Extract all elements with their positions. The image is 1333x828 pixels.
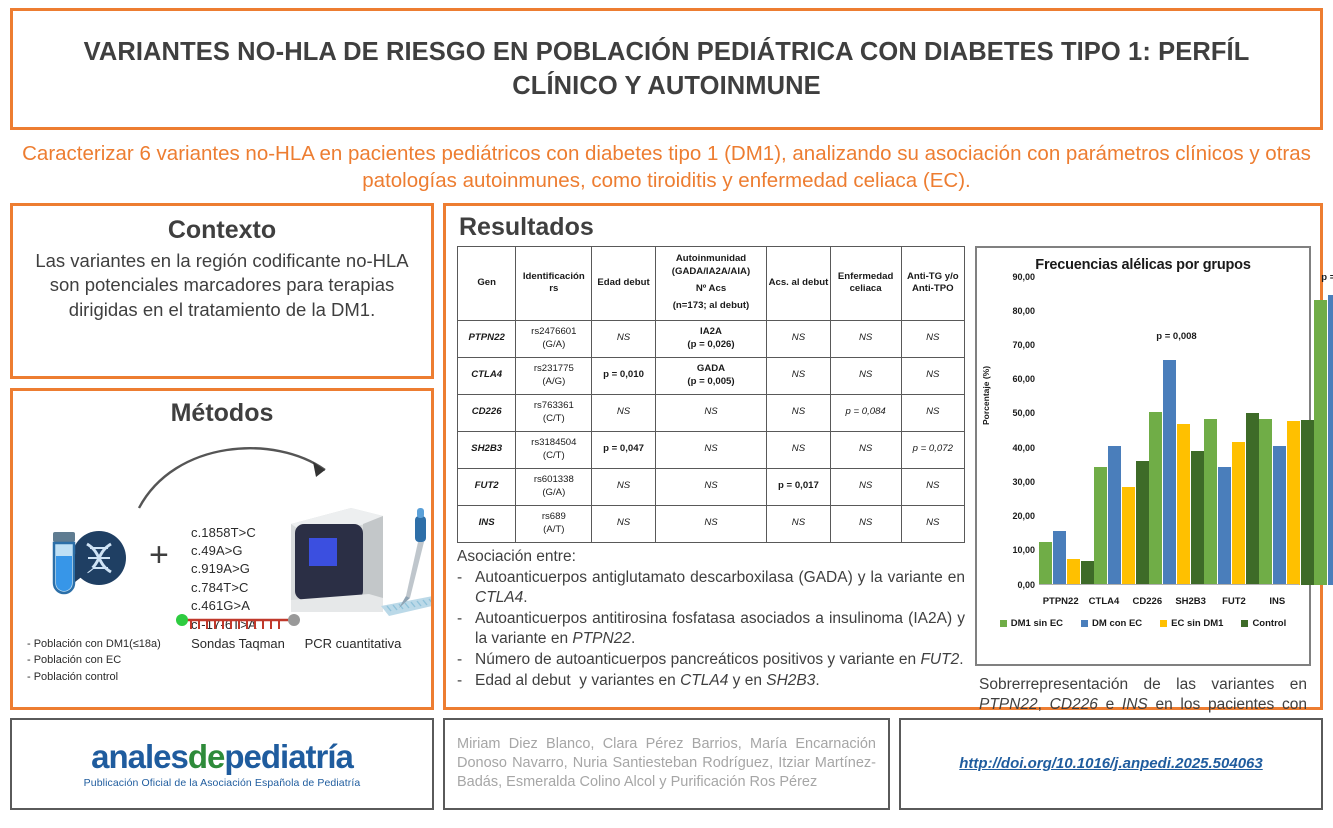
cell-celiaca: NS (830, 468, 901, 505)
doi-link[interactable]: http://doi.org/10.1016/j.anpedi.2025.504… (959, 755, 1262, 772)
cell-celiaca: NS (830, 431, 901, 468)
chart-bar (1163, 360, 1176, 584)
cell-antitg: NS (901, 505, 964, 542)
chart-xtick: PTPN22 (1039, 596, 1082, 607)
cell-autoinmunidad: NS (655, 394, 767, 431)
bullet-dash: - (457, 609, 467, 649)
chart-pvalue-annotation: p = 0,008 (1156, 331, 1196, 342)
chart-bar (1301, 420, 1314, 584)
cell-autoinmunidad: NS (655, 468, 767, 505)
variant-item: c.784T>C (191, 579, 257, 597)
metodos-panel: Métodos (10, 388, 434, 710)
logo-part-anales: anales (91, 738, 188, 775)
bullet-dash: - (457, 568, 467, 608)
chart-bar-group: p = 0,008 (1149, 277, 1204, 585)
cell-rs: rs689(A/T) (516, 505, 592, 542)
col-identificacion-rs: Identificación rs (516, 246, 592, 320)
chart-bar (1328, 295, 1333, 584)
cell-rs: rs601338(G/A) (516, 468, 592, 505)
cell-autoinmunidad: NS (655, 505, 767, 542)
chart-ytick: 30,00 (995, 477, 1035, 487)
chart-bar (1081, 561, 1094, 584)
cell-gen: FUT2 (458, 468, 516, 505)
cell-rs: rs2476601(G/A) (516, 320, 592, 357)
list-item: - Número de autoanticuerpos pancreáticos… (457, 650, 965, 670)
table-row: INSrs689(A/T)NSNSNSNSNS (458, 505, 965, 542)
chart-plot: Porcentaje (%) 0,0010,0020,0030,0040,005… (983, 277, 1303, 629)
chart-x-axis-line (1039, 584, 1299, 585)
cell-edad: p = 0,010 (592, 357, 655, 394)
autoinmunidad-line2: (GADA/IA2A/AIA) (657, 266, 766, 278)
cell-acs: p = 0,017 (767, 468, 830, 505)
population-item: - Población con EC (27, 652, 161, 669)
cell-acs: NS (767, 394, 830, 431)
list-item: - Edad al debut y variantes en CTLA4 y e… (457, 671, 965, 691)
cell-gen: INS (458, 505, 516, 542)
legend-swatch (1241, 620, 1248, 627)
contexto-body: Las variantes en la región codificante n… (27, 249, 417, 323)
legend-label: Control (1252, 618, 1286, 629)
resultados-panel: Resultados Gen Identifi (443, 203, 1323, 710)
chart-ytick: 40,00 (995, 443, 1035, 453)
cell-antitg: p = 0,072 (901, 431, 964, 468)
finding-text: Autoanticuerpos antitirosina fosfatasa a… (475, 609, 965, 649)
chart-bar-group (1039, 277, 1094, 585)
bullet-dash: - (457, 650, 467, 670)
blood-sample-dna-icon (35, 524, 135, 610)
cell-antitg: NS (901, 320, 964, 357)
chart-ytick: 70,00 (995, 340, 1035, 350)
cell-rs: rs763361(C/T) (516, 394, 592, 431)
logo-wordmark: analesdepediatría (91, 738, 353, 776)
chart-bar (1053, 531, 1066, 584)
right-column: Resultados Gen Identifi (443, 203, 1323, 710)
legend-label: DM1 sin EC (1011, 618, 1063, 629)
cell-autoinmunidad: IA2A(p = 0,026) (655, 320, 767, 357)
methods-diagram: + c.1858T>C c.49A>G c.919A>G c.784T>C c.… (23, 428, 421, 686)
findings-lead: Asociación entre: (457, 547, 965, 567)
finding-text: Número de autoanticuerpos pancreáticos p… (475, 650, 965, 670)
legend-label: EC sin DM1 (1171, 618, 1223, 629)
title-banner: VARIANTES NO-HLA DE RIESGO EN POBLACIÓN … (10, 8, 1323, 130)
table-header-row: Gen Identificación rs Edad debut Autoinm… (458, 246, 965, 320)
cell-edad: p = 0,047 (592, 431, 655, 468)
chart-bar (1273, 446, 1286, 585)
chart-bar-group (1259, 277, 1314, 585)
cell-rs: rs231775(A/G) (516, 357, 592, 394)
findings-list: - Autoanticuerpos antiglutamato descarbo… (457, 568, 965, 692)
cell-edad: NS (592, 320, 655, 357)
chart-bar (1204, 419, 1217, 585)
journal-logo: analesdepediatría Publicación Oficial de… (10, 718, 434, 810)
cell-celiaca: NS (830, 505, 901, 542)
chart-legend-item: DM1 sin EC (1000, 618, 1063, 629)
population-list: - Población con DM1(≤18a) - Población co… (27, 636, 161, 686)
chart-legend-item: EC sin DM1 (1160, 618, 1223, 629)
chart-bar (1136, 461, 1149, 584)
cell-acs: NS (767, 320, 830, 357)
cell-celiaca: NS (830, 320, 901, 357)
contexto-panel: Contexto Las variantes en la región codi… (10, 203, 434, 379)
doi-box: http://doi.org/10.1016/j.anpedi.2025.504… (899, 718, 1323, 810)
table-row: CD226rs763361(C/T)NSNSNSp = 0,084NS (458, 394, 965, 431)
chart-ylabel: Porcentaje (%) (981, 365, 991, 424)
legend-swatch (1081, 620, 1088, 627)
chart-xtick: FUT2 (1212, 596, 1255, 607)
col-acs-al-debut: Acs. al debut (767, 246, 830, 320)
cell-acs: NS (767, 357, 830, 394)
results-left: Gen Identificación rs Edad debut Autoinm… (457, 246, 965, 735)
pcr-machine-icon (273, 494, 434, 634)
chart-bar (1067, 559, 1080, 585)
results-right: Frecuencias alélicas por grupos Porcenta… (975, 246, 1311, 735)
authors-box: Miriam Diez Blanco, Clara Pérez Barrios,… (443, 718, 890, 810)
variant-item: c.919A>G (191, 560, 257, 578)
chart-bar (1122, 487, 1135, 585)
legend-swatch (1160, 620, 1167, 627)
chart-ytick: 10,00 (995, 545, 1035, 555)
col-autoinmunidad: Autoinmunidad (GADA/IA2A/AIA) Nº Acs (n=… (655, 246, 767, 320)
chart-legend-item: Control (1241, 618, 1286, 629)
chart-ytick: 0,00 (995, 580, 1035, 590)
table-row: SH2B3rs3184504(C/T)p = 0,047NSNSNSp = 0,… (458, 431, 965, 468)
chart-title: Frecuencias alélicas por grupos (983, 254, 1303, 273)
variant-item: c.49A>G (191, 542, 257, 560)
cell-acs: NS (767, 431, 830, 468)
allele-frequency-chart: Frecuencias alélicas por grupos Porcenta… (975, 246, 1311, 666)
cell-antitg: NS (901, 357, 964, 394)
cell-antitg: NS (901, 394, 964, 431)
chart-bar (1314, 300, 1327, 584)
logo-subtitle: Publicación Oficial de la Asociación Esp… (84, 777, 361, 789)
chart-xtick: INS (1256, 596, 1299, 607)
cell-edad: NS (592, 468, 655, 505)
autoinmunidad-line3: Nº Acs (657, 283, 766, 295)
chart-bars-area: p = 0,008p = 0,019 (1039, 277, 1299, 585)
pcr-label: PCR cuantitativa (278, 636, 428, 651)
finding-text: Autoanticuerpos antiglutamato descarboxi… (475, 568, 965, 608)
findings-block: Asociación entre: - Autoanticuerpos anti… (457, 547, 965, 693)
cell-edad: NS (592, 505, 655, 542)
chart-bar (1177, 424, 1190, 585)
cell-rs: rs3184504(C/T) (516, 431, 592, 468)
bullet-dash: - (457, 671, 467, 691)
table-row: PTPN22rs2476601(G/A)NSIA2A(p = 0,026)NSN… (458, 320, 965, 357)
cell-gen: PTPN22 (458, 320, 516, 357)
chart-bar-group: p = 0,019 (1314, 277, 1333, 585)
cell-gen: CD226 (458, 394, 516, 431)
plus-symbol: + (149, 536, 169, 575)
chart-bar (1218, 467, 1231, 584)
col-gen: Gen (458, 246, 516, 320)
legend-label: DM con EC (1092, 618, 1142, 629)
list-item: - Autoanticuerpos antitirosina fosfatasa… (457, 609, 965, 649)
chart-ytick: 80,00 (995, 306, 1035, 316)
chart-bar (1039, 542, 1052, 584)
population-item: - Población con DM1(≤18a) (27, 636, 161, 653)
chart-bar (1246, 413, 1259, 584)
metodos-heading: Métodos (23, 399, 421, 428)
chart-bar (1259, 419, 1272, 584)
chart-bar (1094, 467, 1107, 584)
cell-autoinmunidad: NS (655, 431, 767, 468)
table-row: CTLA4rs231775(A/G)p = 0,010GADA(p = 0,00… (458, 357, 965, 394)
autoinmunidad-line4: (n=173; al debut) (657, 300, 766, 312)
chart-ytick: 20,00 (995, 511, 1035, 521)
legend-swatch (1000, 620, 1007, 627)
chart-bar (1232, 442, 1245, 584)
cell-gen: CTLA4 (458, 357, 516, 394)
authors-list: Miriam Diez Blanco, Clara Pérez Barrios,… (457, 735, 876, 792)
cell-celiaca: p = 0,084 (830, 394, 901, 431)
col-enfermedad-celiaca: Enfermedad celiaca (830, 246, 901, 320)
left-column: Contexto Las variantes en la región codi… (10, 203, 434, 710)
results-table: Gen Identificación rs Edad debut Autoinm… (457, 246, 965, 543)
variant-item: c.1858T>C (191, 524, 257, 542)
page-title: VARIANTES NO-HLA DE RIESGO EN POBLACIÓN … (39, 35, 1294, 103)
cell-edad: NS (592, 394, 655, 431)
footer: analesdepediatría Publicación Oficial de… (10, 718, 1323, 810)
chart-bar (1108, 446, 1121, 585)
chart-bar (1191, 451, 1204, 584)
chart-bar (1149, 412, 1162, 585)
chart-pvalue-annotation: p = 0,019 (1321, 272, 1333, 283)
chart-ytick: 90,00 (995, 272, 1035, 282)
chart-xtick: SH2B3 (1169, 596, 1212, 607)
chart-legend: DM1 sin ECDM con ECEC sin DM1Control (983, 618, 1303, 629)
chart-bar-group (1094, 277, 1149, 585)
table-row: FUT2rs601338(G/A)NSNSp = 0,017NSNS (458, 468, 965, 505)
contexto-heading: Contexto (27, 216, 417, 245)
chart-bar-groups: p = 0,008p = 0,019 (1039, 277, 1299, 585)
chart-xtick: CTLA4 (1082, 596, 1125, 607)
col-edad-debut: Edad debut (592, 246, 655, 320)
list-item: - Autoanticuerpos antiglutamato descarbo… (457, 568, 965, 608)
cell-acs: NS (767, 505, 830, 542)
chart-legend-item: DM con EC (1081, 618, 1142, 629)
logo-part-pediatria: pediatría (224, 738, 353, 775)
chart-xtick: CD226 (1126, 596, 1169, 607)
chart-ytick: 60,00 (995, 374, 1035, 384)
autoinmunidad-line1: Autoinmunidad (657, 253, 766, 265)
cell-celiaca: NS (830, 357, 901, 394)
cell-antitg: NS (901, 468, 964, 505)
poster-root: VARIANTES NO-HLA DE RIESGO EN POBLACIÓN … (0, 0, 1333, 828)
resultados-heading: Resultados (457, 213, 1311, 242)
cell-gen: SH2B3 (458, 431, 516, 468)
main-content: Contexto Las variantes en la región codi… (10, 203, 1323, 710)
results-table-body: PTPN22rs2476601(G/A)NSIA2A(p = 0,026)NSN… (458, 320, 965, 542)
chart-x-axis: PTPN22CTLA4CD226SH2B3FUT2INS (1039, 596, 1299, 607)
chart-bar-group (1204, 277, 1259, 585)
population-item: - Población control (27, 669, 161, 686)
logo-part-de: de (188, 738, 225, 775)
col-anti-tg-tpo: Anti-TG y/o Anti-TPO (901, 246, 964, 320)
cell-autoinmunidad: GADA(p = 0,005) (655, 357, 767, 394)
objective-statement: Caracterizar 6 variantes no-HLA en pacie… (10, 130, 1323, 203)
finding-text: Edad al debut y variantes en CTLA4 y en … (475, 671, 965, 691)
chart-bar (1287, 421, 1300, 585)
chart-ytick: 50,00 (995, 408, 1035, 418)
